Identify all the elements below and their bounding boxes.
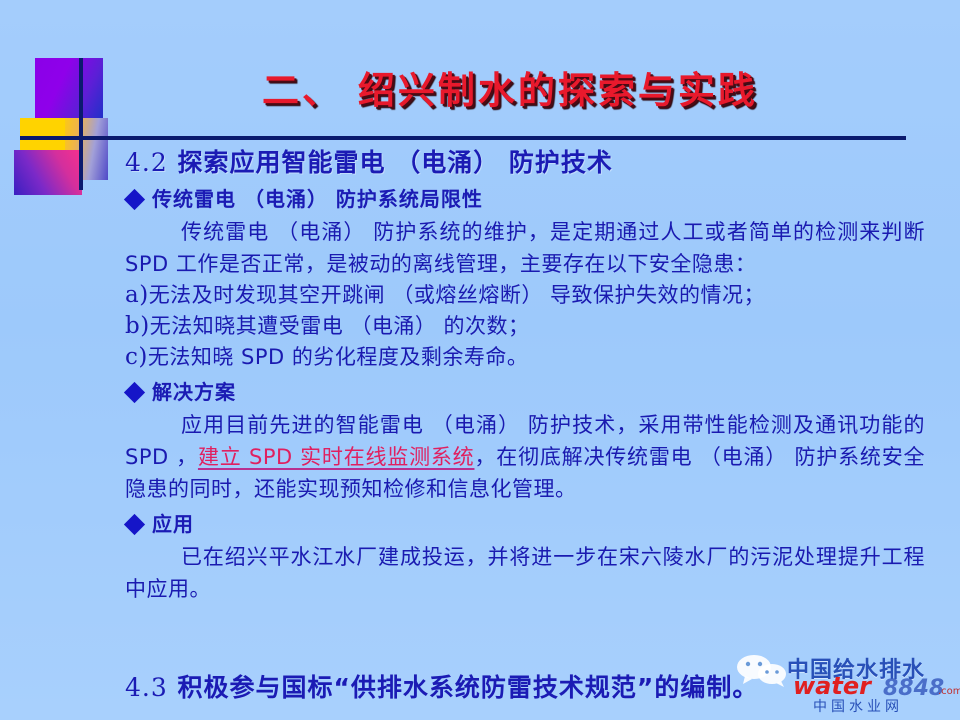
deco-square-magenta <box>14 150 82 195</box>
bullet-application-label: 应用 <box>152 509 194 539</box>
diamond-bullet-icon <box>124 381 145 402</box>
bullet-limitations-label: 传统雷电 （电涌） 防护系统局限性 <box>152 184 483 214</box>
bullet-limitations: 传统雷电 （电涌） 防护系统局限性 <box>125 184 925 214</box>
next-section-heading: 4.3 积极参与国标“供排水系统防雷技术规范”的编制。 <box>125 668 945 704</box>
paragraph-solution: 应用目前先进的智能雷电 （电涌） 防护技术，采用带性能检测及通讯功能的 SPD … <box>125 409 925 505</box>
list-item-text: 无法及时发现其空开跳闸 （或熔丝熔断） 导致保护失效的情况； <box>149 283 765 307</box>
deco-cross-vertical <box>79 58 83 190</box>
header-rule-line <box>20 136 906 140</box>
decorative-logo-block <box>0 0 130 210</box>
section-heading-text: 探索应用智能雷电 （电涌） 防护技术 <box>177 148 612 177</box>
bullet-solution: 解决方案 <box>125 377 925 407</box>
deco-square-purple <box>35 58 103 118</box>
list-item-label: a) <box>125 282 149 308</box>
paragraph-limitations: 传统雷电 （电涌） 防护系统的维护，是定期通过人工或者简单的检测来判断 SPD … <box>125 216 925 280</box>
diamond-bullet-icon <box>124 513 145 534</box>
bullet-application: 应用 <box>125 509 925 539</box>
section-heading: 4.2 探索应用智能雷电 （电涌） 防护技术 <box>125 146 925 180</box>
slide-content: 4.2 探索应用智能雷电 （电涌） 防护技术 传统雷电 （电涌） 防护系统局限性… <box>125 146 925 605</box>
list-item-label: b) <box>125 313 150 339</box>
paragraph-application: 已在绍兴平水江水厂建成投运，并将进一步在宋六陵水厂的污泥处理提升工程中应用。 <box>125 541 925 605</box>
diamond-bullet-icon <box>124 188 145 209</box>
slide-title: 二、 绍兴制水的探索与实践 <box>190 60 830 108</box>
list-item-text: 无法知晓其遭受雷电 （电涌） 的次数； <box>150 314 530 338</box>
bullet-solution-label: 解决方案 <box>152 377 236 407</box>
list-item-text: 无法知晓 SPD 的劣化程度及剩余寿命。 <box>148 345 529 369</box>
list-item: b)无法知晓其遭受雷电 （电涌） 的次数； <box>125 311 925 342</box>
next-section-heading-text: 积极参与国标“供排水系统防雷技术规范”的编制。 <box>177 673 758 702</box>
list-item-label: c) <box>125 344 148 370</box>
highlight-spd-monitoring: 建立 SPD 实时在线监测系统 <box>198 445 475 469</box>
list-item: a)无法及时发现其空开跳闸 （或熔丝熔断） 导致保护失效的情况； <box>125 280 925 311</box>
section-number: 4.2 <box>125 148 168 177</box>
list-item: c)无法知晓 SPD 的劣化程度及剩余寿命。 <box>125 342 925 373</box>
next-section-number: 4.3 <box>125 673 168 702</box>
